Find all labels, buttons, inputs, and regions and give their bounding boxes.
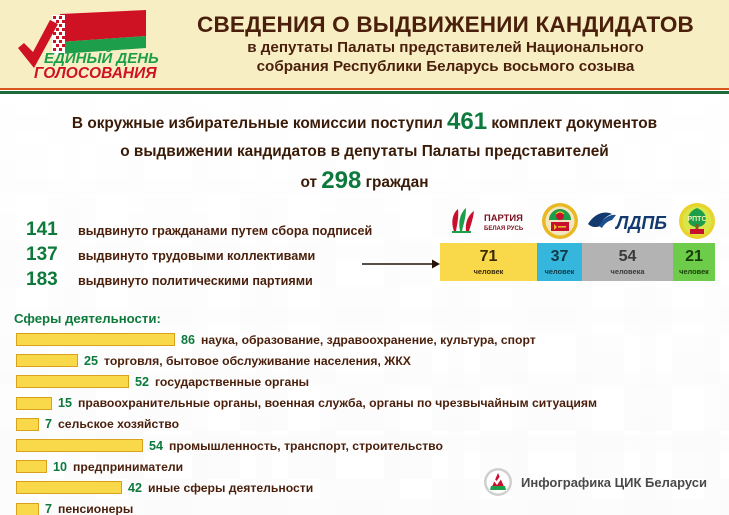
- nomination-value: 141: [26, 219, 78, 241]
- footer-credit: Инфографика ЦИК Беларуси: [483, 467, 707, 497]
- sphere-bar: [16, 460, 47, 473]
- sphere-row-pensioners: 7 пенсионеры: [0, 501, 729, 515]
- lead-line-3-suffix: граждан: [366, 174, 429, 191]
- sphere-value: 42: [128, 481, 142, 495]
- lead-line-3-prefix: от: [300, 174, 317, 191]
- sphere-row-industry-transport: 54 промышленность, транспорт, строительс…: [0, 437, 729, 454]
- sphere-label: предприниматели: [73, 460, 183, 474]
- lead-line-2: о выдвижении кандидатов в депутаты Палат…: [0, 140, 729, 163]
- party-logos-strip: ПАРТИЯ БЕЛАЯ РУСЬ ЛДПБ: [440, 199, 720, 243]
- sphere-row-science-education: 86 наука, образование, здравоохранение, …: [0, 331, 729, 348]
- sphere-bar: [16, 481, 122, 494]
- lead-line-1-suffix: комплект документов: [491, 115, 657, 132]
- sphere-bar: [16, 418, 39, 431]
- nomination-row-political-parties: 183 выдвинуто политическими партиями: [26, 269, 372, 291]
- party-segment-value: 71: [480, 249, 498, 265]
- sphere-label: торговля, бытовое обслуживание населения…: [104, 354, 411, 368]
- ldpb-logo: ЛДПБ: [586, 206, 670, 236]
- logo-line2-text: ГОЛОСОВАНИЯ: [34, 65, 157, 82]
- sphere-value: 54: [149, 439, 163, 453]
- kommunisticheskaya-partiya-belarusi-logo: [541, 202, 579, 240]
- page-subtitle-line1: в депутаты Палаты представителей Национа…: [172, 40, 719, 56]
- header-banner: ЕДИНЫЙ ДЕНЬ ГОЛОСОВАНИЯ СВЕДЕНИЯ О ВЫДВИ…: [0, 0, 729, 88]
- party-segment-value: 54: [619, 249, 637, 265]
- nomination-label: выдвинуто трудовыми коллективами: [78, 249, 315, 263]
- nomination-row-signatures: 141 выдвинуто гражданами путем сбора под…: [26, 219, 372, 241]
- sphere-value: 7: [45, 417, 52, 431]
- nomination-value: 137: [26, 244, 78, 266]
- page-subtitle-line2: собрания Республики Беларусь восьмого со…: [172, 59, 719, 75]
- party-logo-kpb: [537, 200, 582, 242]
- cik-belarus-logo: [483, 467, 513, 497]
- party-logo-belaya-rus: ПАРТИЯ БЕЛАЯ РУСЬ: [440, 200, 537, 242]
- party-segment-value: 21: [685, 249, 703, 265]
- partiya-belaya-rus-logo: ПАРТИЯ БЕЛАЯ РУСЬ: [446, 205, 532, 237]
- nomination-row-labor-collectives: 137 выдвинуто трудовыми коллективами: [26, 244, 372, 266]
- documents-count: 461: [447, 108, 487, 135]
- sphere-label: государственные органы: [155, 375, 309, 389]
- sphere-label: сельское хозяйство: [58, 417, 179, 431]
- party-logo-rptis: РПТС: [673, 200, 720, 242]
- sphere-bar: [16, 354, 78, 367]
- sphere-value: 52: [135, 375, 149, 389]
- footer-text: Инфографика ЦИК Беларуси: [521, 475, 707, 490]
- sphere-value: 25: [84, 354, 98, 368]
- sphere-row-state-bodies: 52 государственные органы: [0, 373, 729, 390]
- party-segment-kpb: 37 человек: [537, 243, 582, 281]
- nomination-list: 141 выдвинуто гражданами путем сбора под…: [26, 219, 372, 294]
- sphere-bar: [16, 333, 175, 346]
- party-segment-unit: человека: [611, 268, 645, 275]
- sphere-label: промышленность, транспорт, строительство: [169, 439, 443, 453]
- party-segment-rptis: 21 человек: [673, 243, 715, 281]
- party-logo-line1: ПАРТИЯ: [484, 212, 523, 223]
- sphere-label: иные сферы деятельности: [148, 481, 313, 495]
- party-logo-ldpb: ЛДПБ: [582, 200, 673, 242]
- lead-line-1: В окружные избирательные комиссии поступ…: [0, 104, 729, 140]
- sphere-label: правоохранительные органы, военная служб…: [78, 396, 597, 410]
- sphere-value: 7: [45, 502, 52, 515]
- sphere-row-trade-services: 25 торговля, бытовое обслуживание населе…: [0, 352, 729, 369]
- sphere-row-law-enforcement: 15 правоохранительные органы, военная сл…: [0, 395, 729, 412]
- edinyi-den-golosovaniya-logo-graphic: ЕДИНЫЙ ДЕНЬ ГОЛОСОВАНИЯ: [14, 6, 164, 82]
- sphere-bar: [16, 439, 143, 452]
- party-segment-unit: человек: [679, 268, 709, 275]
- lead-line-3: от 298 граждан: [0, 163, 729, 199]
- page-title: СВЕДЕНИЯ О ВЫДВИЖЕНИИ КАНДИДАТОВ: [172, 13, 719, 37]
- party-segment-belaya-rus: 71 человек: [440, 243, 537, 281]
- party-logo-line1: ЛДПБ: [614, 213, 667, 233]
- arrow-right-icon: [362, 258, 440, 270]
- infographic-page: ЕДИНЫЙ ДЕНЬ ГОЛОСОВАНИЯ СВЕДЕНИЯ О ВЫДВИ…: [0, 0, 729, 515]
- sphere-label: наука, образование, здравоохранение, кул…: [201, 333, 536, 347]
- nomination-label: выдвинуто гражданами путем сбора подписе…: [78, 224, 372, 238]
- lead-line-1-prefix: В окружные избирательные комиссии поступ…: [72, 115, 443, 132]
- sphere-bar: [16, 503, 39, 515]
- voting-day-logo: ЕДИНЫЙ ДЕНЬ ГОЛОСОВАНИЯ: [0, 0, 170, 88]
- sphere-value: 86: [181, 333, 195, 347]
- header-titles: СВЕДЕНИЯ О ВЫДВИЖЕНИИ КАНДИДАТОВ в депут…: [170, 13, 729, 75]
- party-segment-unit: человек: [545, 268, 575, 275]
- citizens-count: 298: [321, 167, 361, 194]
- sphere-value: 15: [58, 396, 72, 410]
- nomination-label: выдвинуто политическими партиями: [78, 274, 313, 288]
- sphere-bar: [16, 375, 129, 388]
- party-distribution-bar: 71 человек 37 человек 54 человека 21 чел…: [440, 243, 715, 281]
- respublikanskaya-partiya-truda-i-spravedlivosti-logo: РПТС: [678, 202, 716, 240]
- svg-text:РПТС: РПТС: [687, 216, 706, 223]
- party-logo-line2: БЕЛАЯ РУСЬ: [484, 226, 524, 232]
- party-segment-value: 37: [551, 249, 569, 265]
- party-segment-unit: человек: [474, 268, 504, 275]
- lead-statement: В окружные избирательные комиссии поступ…: [0, 104, 729, 199]
- party-segment-ldpb: 54 человека: [582, 243, 673, 281]
- sphere-row-agriculture: 7 сельское хозяйство: [0, 416, 729, 433]
- sphere-label: пенсионеры: [58, 502, 133, 515]
- sphere-bar: [16, 397, 52, 410]
- sphere-value: 10: [53, 460, 67, 474]
- nomination-value: 183: [26, 269, 78, 291]
- spheres-title: Сферы деятельности:: [14, 311, 729, 326]
